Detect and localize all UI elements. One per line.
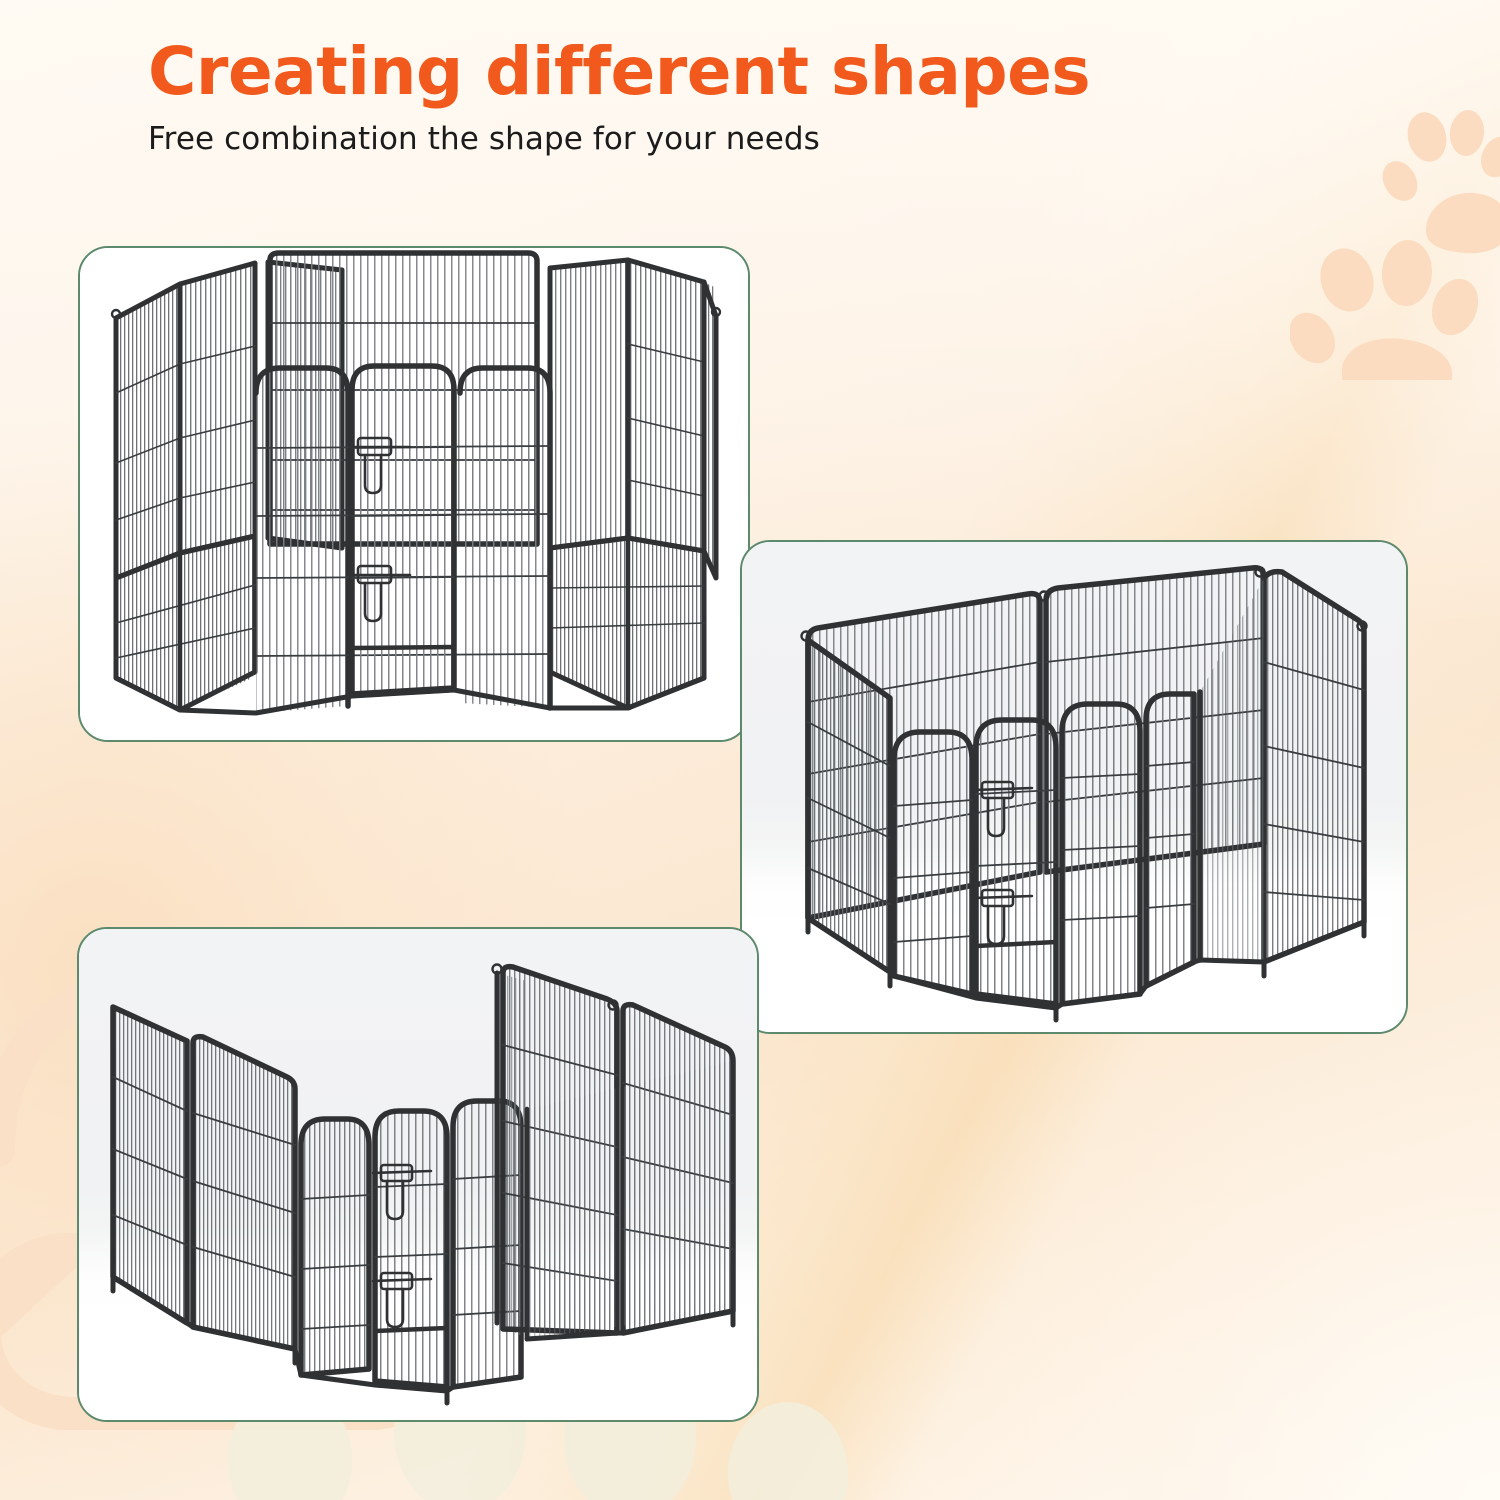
panel-left-wall-b bbox=[193, 1037, 295, 1349]
paw-print-pair-icon bbox=[1290, 95, 1500, 385]
playpen-open-illustration bbox=[79, 929, 757, 1420]
product-card-open-square bbox=[77, 927, 759, 1422]
door-center bbox=[375, 1111, 447, 1391]
panel-far-right bbox=[704, 282, 720, 578]
panel-back-right bbox=[550, 260, 628, 548]
panel-front-right-wing bbox=[550, 538, 704, 708]
product-card-hexagon bbox=[78, 246, 750, 742]
panel-front-right-arch-b bbox=[1138, 692, 1194, 986]
panel-left-front bbox=[180, 263, 255, 553]
panel-right-end bbox=[1264, 572, 1367, 962]
door-center bbox=[352, 366, 454, 696]
page-subtitle: Free combination the shape for your need… bbox=[148, 121, 1268, 158]
panel-left-end bbox=[808, 640, 890, 972]
panel-front-left-arch bbox=[894, 732, 972, 994]
playpen-hexagon-illustration bbox=[80, 248, 748, 740]
page-title: Creating different shapes bbox=[148, 36, 1268, 107]
panel-far-left bbox=[112, 284, 180, 578]
panel-right-front bbox=[628, 260, 704, 551]
header: Creating different shapes Free combinati… bbox=[148, 36, 1268, 158]
product-card-rectangle bbox=[740, 540, 1408, 1034]
panel-inner-right-depth bbox=[527, 1061, 733, 1339]
panel-left-wall-a bbox=[113, 1007, 187, 1323]
panel-inner-front-left bbox=[301, 1119, 369, 1375]
door-front bbox=[976, 720, 1056, 1008]
playpen-rectangle-illustration bbox=[742, 542, 1406, 1032]
infographic-canvas: Creating different shapes Free combinati… bbox=[0, 0, 1500, 1500]
panel-front-right-arch-a bbox=[1062, 704, 1140, 1004]
